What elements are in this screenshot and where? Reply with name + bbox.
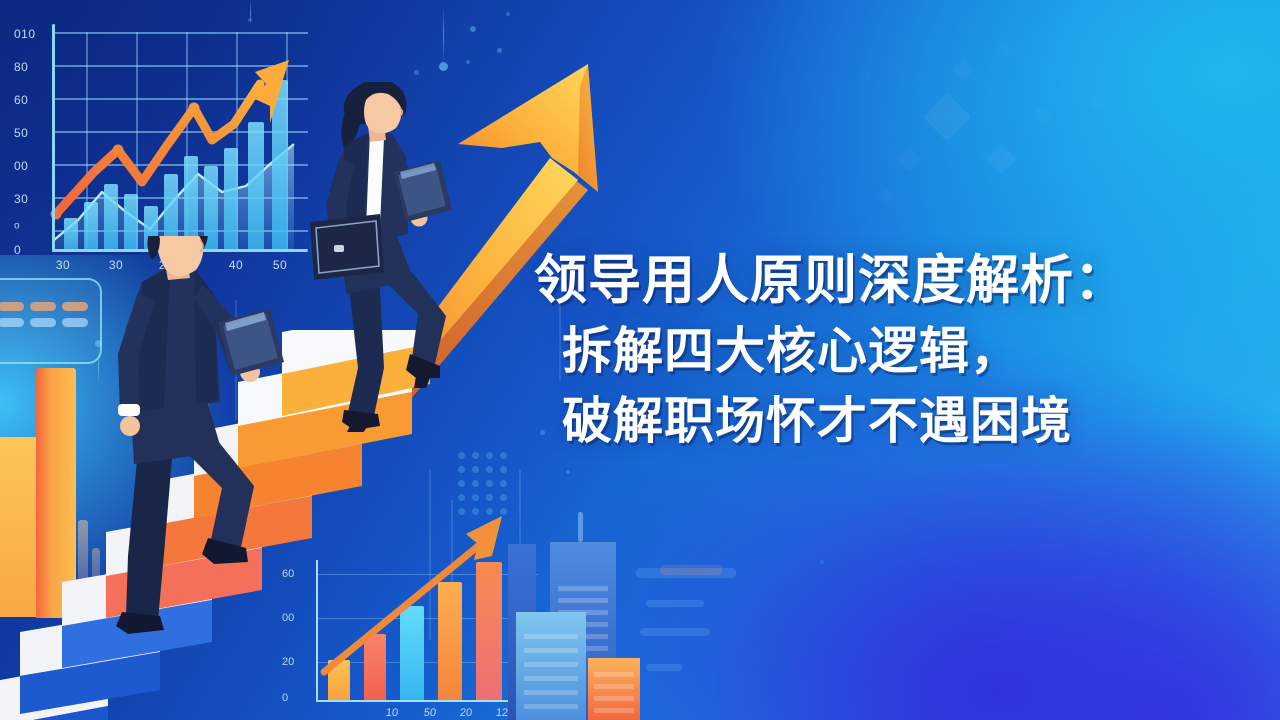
- title-line-1: 领导用人原则深度解析：: [534, 246, 1234, 316]
- y-tick-label: 0: [14, 243, 21, 257]
- y-tick-label: 0: [282, 692, 288, 704]
- poster-canvas: 010 80 60 50 00 30 o 0 30 30 20 40 50: [0, 0, 1280, 720]
- y-tick-label: 20: [282, 656, 294, 668]
- building-tall-cyan: [516, 612, 586, 720]
- x-tick-label: 10: [385, 707, 399, 719]
- y-tick-label: 30: [14, 192, 28, 206]
- y-tick-label: 00: [282, 612, 294, 624]
- x-tick-label: 50: [423, 707, 437, 719]
- y-tick-label: 010: [14, 27, 36, 41]
- building-orange: [588, 658, 640, 720]
- figure-businesswoman: [288, 82, 478, 432]
- title-line-2: 拆解四大核心逻辑，: [534, 316, 1234, 386]
- chart-bottom-mid: 60 00 20 0 10 50 20 12: [278, 560, 538, 720]
- y-tick-label: 80: [14, 60, 28, 74]
- city-skyline: [500, 510, 820, 720]
- title-line-3: 破解职场怀才不遇困境: [534, 386, 1234, 456]
- poster-title: 领导用人原则深度解析： 拆解四大核心逻辑， 破解职场怀才不遇困境: [534, 246, 1234, 456]
- y-tick-label: o: [14, 221, 20, 232]
- figure-businessman: [98, 236, 298, 656]
- building-spire-antenna: [578, 512, 583, 542]
- chart-tl-y-axis: [52, 24, 55, 252]
- x-tick-label: 20: [459, 707, 473, 719]
- x-tick-label: 30: [56, 258, 70, 272]
- chart-bm-y-axis: [316, 560, 318, 702]
- y-tick-label: 50: [14, 126, 28, 140]
- y-tick-label: 60: [282, 568, 294, 580]
- y-tick-label: 60: [14, 93, 28, 107]
- y-tick-label: 00: [14, 159, 28, 173]
